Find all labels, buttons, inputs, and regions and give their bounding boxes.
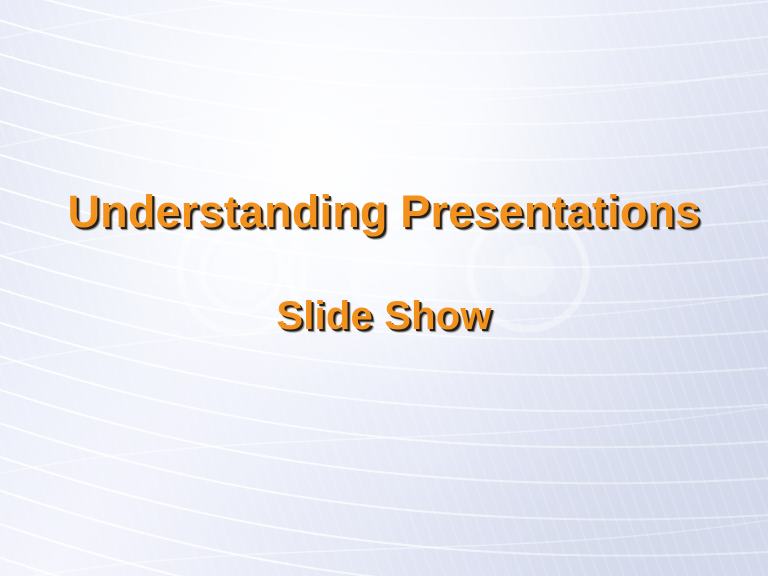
presentation-slide: Understanding Presentations Slide Show	[0, 0, 768, 576]
slide-content: Understanding Presentations Slide Show	[0, 0, 768, 576]
slide-subtitle: Slide Show	[0, 293, 768, 339]
slide-title: Understanding Presentations	[0, 186, 768, 238]
